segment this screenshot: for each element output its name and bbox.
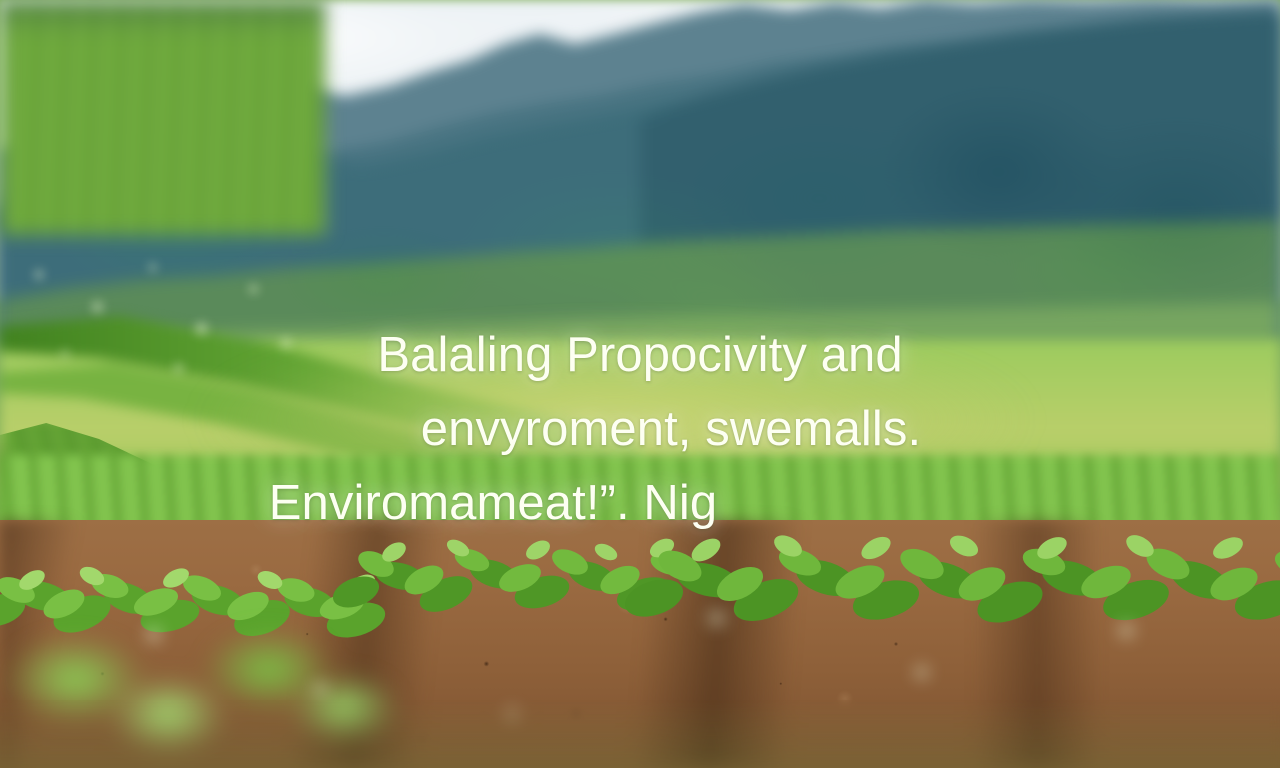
foreground-seedling-row-right xyxy=(620,520,1280,700)
headline-line-2: envyroment, swemalls. xyxy=(0,392,1280,466)
headline-overlay: Balaling Propocivity and envyroment, swe… xyxy=(0,318,1280,540)
seedling-cluster-right xyxy=(620,520,1280,700)
headline-line-1: Balaling Propocivity and xyxy=(0,318,1280,392)
bottom-depth-of-field-blur xyxy=(0,700,1280,768)
headline-line-3: Enviromameat!”. Nig xyxy=(0,466,1133,540)
banner-image: Balaling Propocivity and envyroment, swe… xyxy=(0,0,1280,768)
right-tall-corn-rows xyxy=(0,0,325,235)
